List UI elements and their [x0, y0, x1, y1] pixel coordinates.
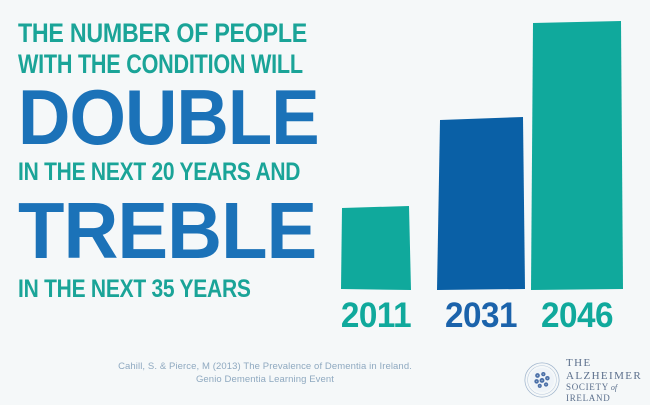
infographic-canvas: THE NUMBER OF PEOPLE WITH THE CONDITION …: [0, 0, 650, 405]
logo-society: SOCIETY: [566, 382, 609, 392]
bar-2031-shape: [437, 117, 525, 290]
bar-label-2011: 2011: [339, 296, 413, 336]
headline-line-1: THE NUMBER OF PEOPLE: [18, 18, 286, 49]
bar-label-2046: 2046: [531, 296, 622, 336]
headline-block: THE NUMBER OF PEOPLE WITH THE CONDITION …: [18, 18, 330, 305]
bar-chart: 2011 2031 2046: [335, 0, 650, 340]
headline-emphasis-treble: TREBLE: [18, 189, 314, 273]
logo-line-1: THE ALZHEIMER: [566, 357, 650, 382]
logo-wordmark: THE ALZHEIMER SOCIETY of IRELAND: [566, 357, 650, 403]
bar-2011: [341, 206, 411, 290]
bar-2046: [531, 21, 623, 290]
bar-2031: [437, 117, 525, 290]
headline-line-6: IN THE NEXT 35 YEARS: [18, 273, 280, 305]
source-citation: Cahill, S. & Pierce, M (2013) The Preval…: [110, 360, 420, 386]
alzheimer-society-logo: THE ALZHEIMER SOCIETY of IRELAND: [524, 357, 650, 403]
headline-line-4: IN THE NEXT 20 YEARS AND: [18, 155, 280, 189]
logo-of: of: [609, 383, 617, 392]
citation-line-1: Cahill, S. & Pierce, M (2013) The Preval…: [110, 360, 420, 373]
logo-line-2: SOCIETY of IRELAND: [566, 382, 650, 403]
forget-me-not-badge-icon: [524, 362, 560, 398]
logo-ireland: IRELAND: [566, 393, 610, 403]
bar-2046-shape: [531, 21, 623, 290]
bar-label-2031: 2031: [437, 296, 524, 336]
citation-line-2: Genio Dementia Learning Event: [110, 373, 420, 386]
headline-emphasis-double: DOUBLE: [18, 79, 308, 155]
bar-2011-shape: [341, 206, 411, 290]
